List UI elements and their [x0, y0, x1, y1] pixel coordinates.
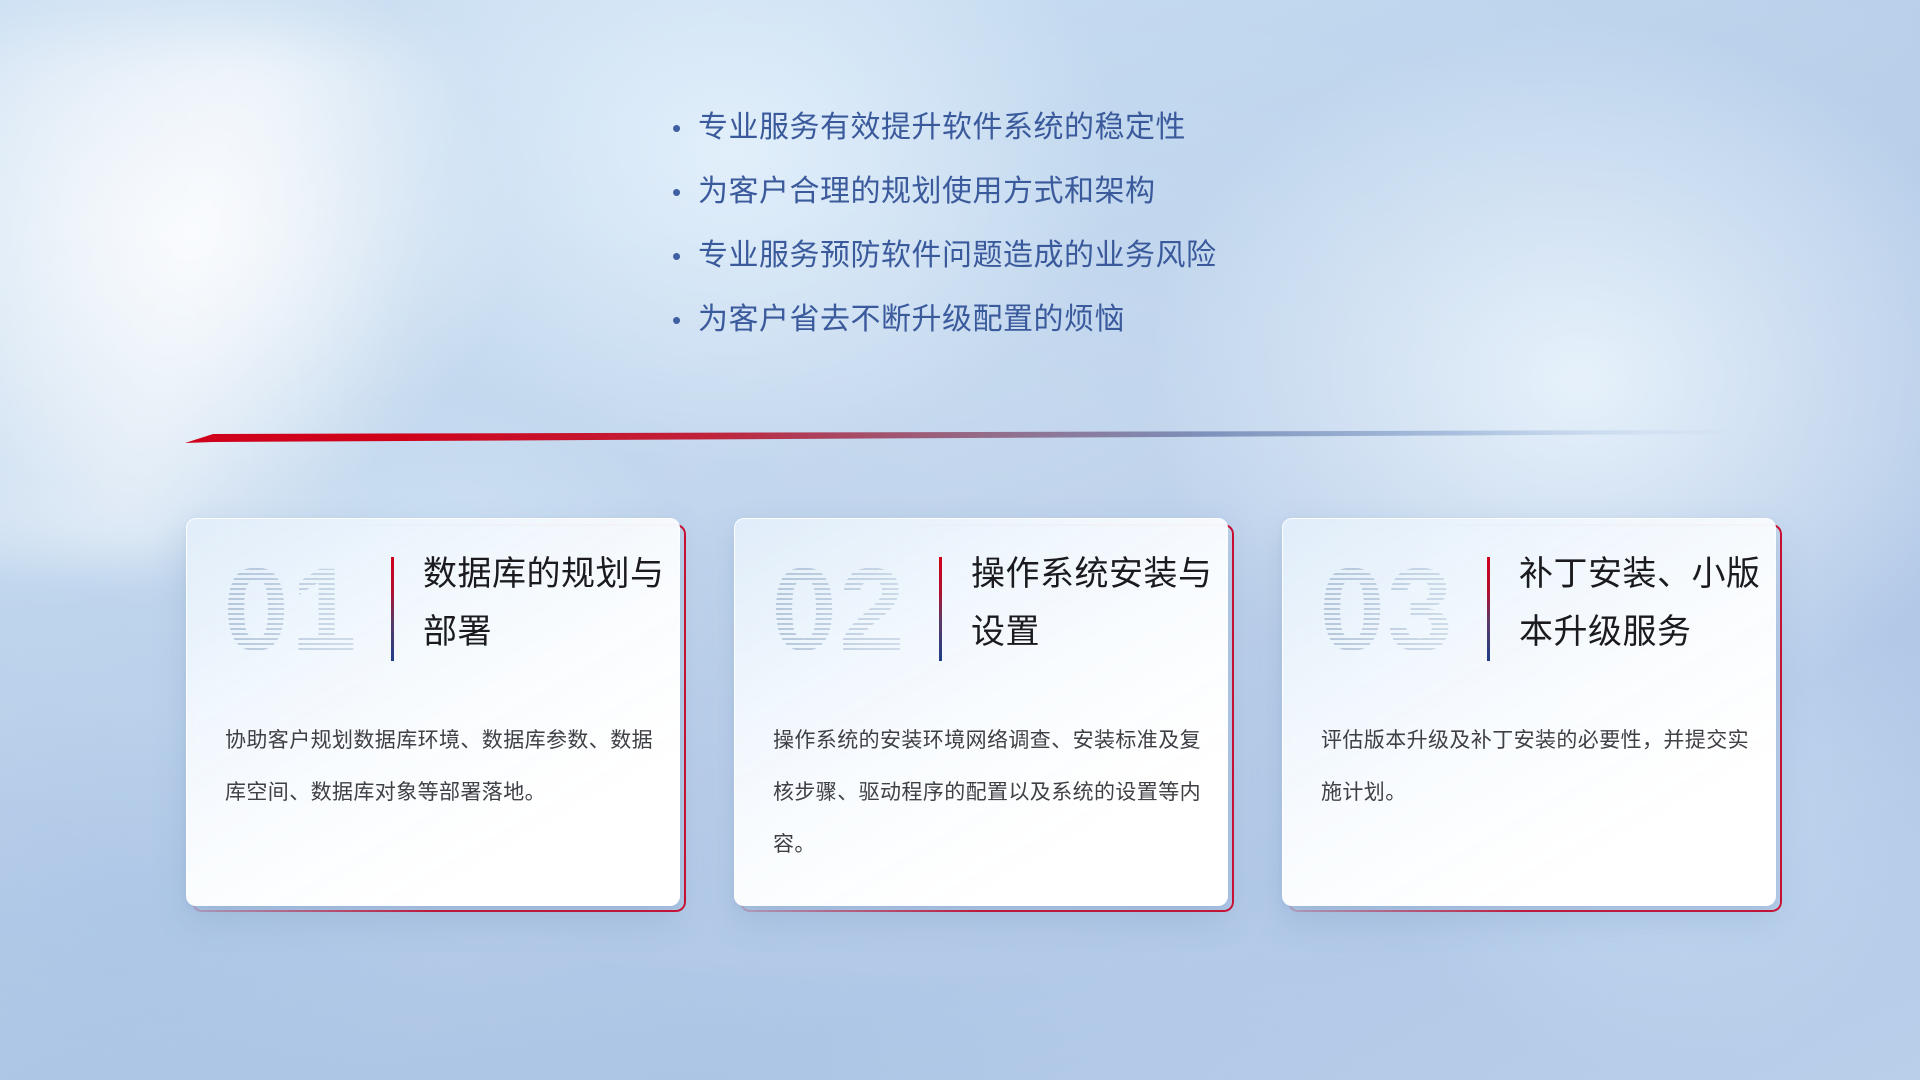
card-header: 01 数据库的规划与部署 [187, 541, 680, 689]
bullet-label: 专业服务预防软件问题造成的业务风险 [698, 236, 1217, 276]
card-description: 协助客户规划数据库环境、数据库参数、数据库空间、数据库对象等部署落地。 [225, 715, 653, 819]
service-card[interactable]: 03 补丁安装、小版本升级服务 评估版本升级及补丁安装的必要性，并提交实施计划。 [1282, 518, 1776, 906]
card-number: 03 [1307, 543, 1467, 677]
card-header: 02 操作系统安装与设置 [735, 541, 1228, 689]
card-description: 评估版本升级及补丁安装的必要性，并提交实施计划。 [1321, 715, 1749, 819]
bullet-label: 专业服务有效提升软件系统的稳定性 [698, 108, 1186, 148]
card-title: 数据库的规划与部署 [423, 545, 669, 661]
card-panel: 03 补丁安装、小版本升级服务 评估版本升级及补丁安装的必要性，并提交实施计划。 [1282, 518, 1776, 906]
card-panel: 02 操作系统安装与设置 操作系统的安装环境网络调查、安装标准及复核步骤、驱动程… [734, 518, 1228, 906]
list-item: • 为客户合理的规划使用方式和架构 [672, 172, 1572, 236]
card-divider-bar [1487, 557, 1490, 661]
bullet-label: 为客户合理的规划使用方式和架构 [698, 172, 1156, 212]
card-number: 01 [211, 543, 371, 677]
divider-shape-icon [185, 428, 1730, 446]
section-divider [185, 428, 1730, 446]
benefits-bullet-list: • 专业服务有效提升软件系统的稳定性 • 为客户合理的规划使用方式和架构 • 专… [672, 108, 1572, 364]
slide-canvas: • 专业服务有效提升软件系统的稳定性 • 为客户合理的规划使用方式和架构 • 专… [0, 0, 1920, 1080]
card-divider-bar [391, 557, 394, 661]
card-number: 02 [759, 543, 919, 677]
card-panel: 01 数据库的规划与部署 协助客户规划数据库环境、数据库参数、数据库空间、数据库… [186, 518, 680, 906]
card-divider-bar [939, 557, 942, 661]
card-title: 补丁安装、小版本升级服务 [1519, 545, 1765, 661]
background-light-streak [0, 40, 580, 560]
card-title: 操作系统安装与设置 [971, 545, 1217, 661]
list-item: • 专业服务预防软件问题造成的业务风险 [672, 236, 1572, 300]
bullet-marker-icon: • [672, 300, 698, 340]
bullet-label: 为客户省去不断升级配置的烦恼 [698, 300, 1125, 340]
bullet-marker-icon: • [672, 172, 698, 212]
service-card[interactable]: 02 操作系统安装与设置 操作系统的安装环境网络调查、安装标准及复核步骤、驱动程… [734, 518, 1228, 906]
card-description: 操作系统的安装环境网络调查、安装标准及复核步骤、驱动程序的配置以及系统的设置等内… [773, 715, 1201, 871]
bullet-marker-icon: • [672, 236, 698, 276]
card-header: 03 补丁安装、小版本升级服务 [1283, 541, 1776, 689]
service-card[interactable]: 01 数据库的规划与部署 协助客户规划数据库环境、数据库参数、数据库空间、数据库… [186, 518, 680, 906]
bullet-marker-icon: • [672, 108, 698, 148]
list-item: • 为客户省去不断升级配置的烦恼 [672, 300, 1572, 364]
list-item: • 专业服务有效提升软件系统的稳定性 [672, 108, 1572, 172]
service-card-group: 01 数据库的规划与部署 协助客户规划数据库环境、数据库参数、数据库空间、数据库… [186, 518, 1786, 918]
